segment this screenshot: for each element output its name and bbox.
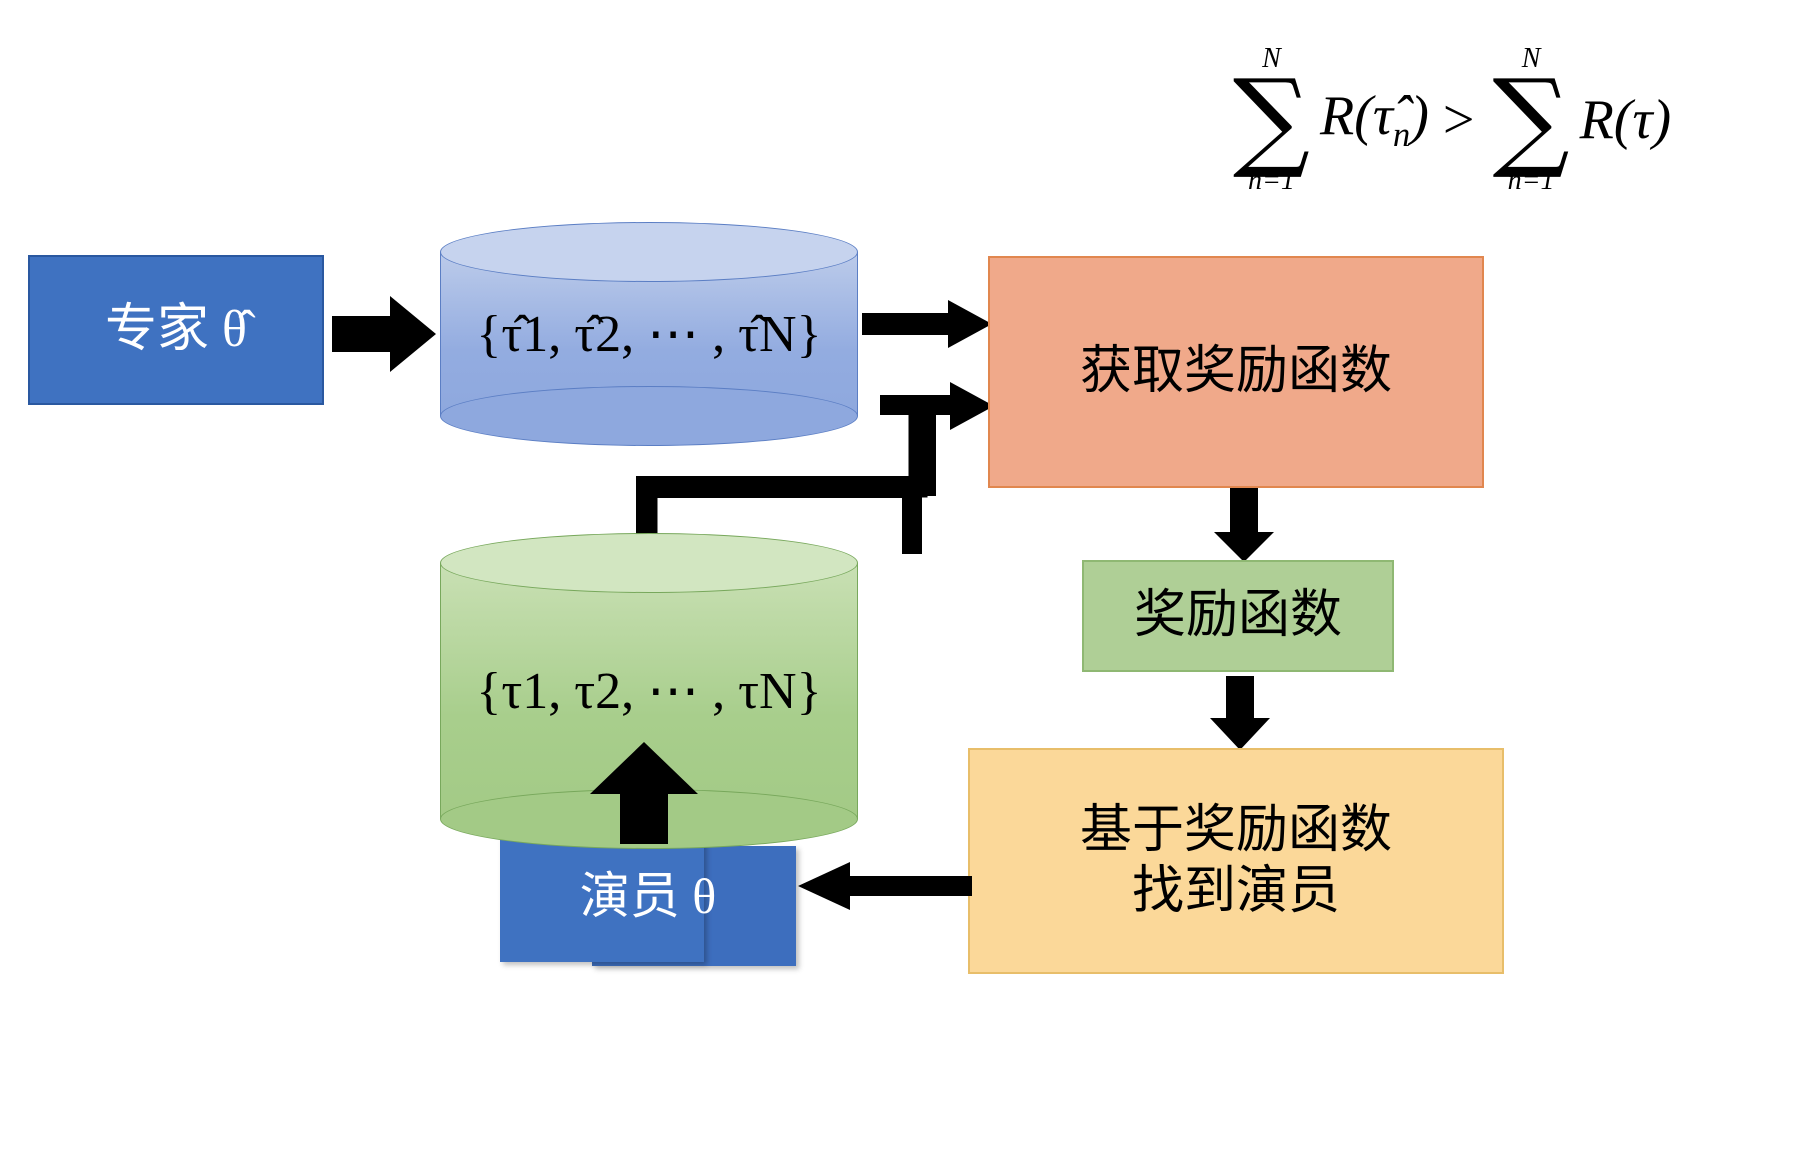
node-expert-trajectories-label: {τ̂1, τ̂2, ⋯ , τ̂N} <box>440 222 858 446</box>
node-actor-label-wrap: 演员 θ <box>500 826 796 966</box>
node-expert-label: 专家 θ̂ <box>105 299 247 360</box>
formula-relation: > <box>1443 88 1475 152</box>
node-reward-function[interactable]: 奖励函数 <box>1082 560 1394 672</box>
sum-left-sigma-icon: ∑ <box>1233 74 1310 167</box>
node-get-reward-function[interactable]: 获取奖励函数 <box>988 256 1484 488</box>
arrow-find-actor-to-actor <box>796 862 972 910</box>
summation-left: N ∑ n=1 <box>1233 44 1310 196</box>
sum-left-lower-limit: n=1 <box>1248 166 1295 195</box>
sum-right-sigma-icon: ∑ <box>1492 74 1569 167</box>
node-find-actor[interactable]: 基于奖励函数 找到演员 <box>968 748 1504 974</box>
node-reward-function-label: 奖励函数 <box>1134 585 1342 646</box>
formula-left-term-subscript: n <box>1393 116 1410 155</box>
arrow-get-reward-to-reward-function <box>1212 488 1276 564</box>
formula-left-term-head: R(τ̂ <box>1320 85 1393 147</box>
arrow-expert-to-expert-trajectories <box>332 296 440 372</box>
node-find-actor-line2: 找到演员 <box>1132 863 1340 920</box>
diagram-canvas: N ∑ n=1 R(τ̂n) > N ∑ n=1 R(τ) 专家 θ̂ {τ̂1… <box>0 0 1816 1159</box>
arrowhead-actor-trajectories-to-get-reward <box>880 380 998 432</box>
node-actor-label: 演员 θ <box>580 867 716 926</box>
summation-right: N ∑ n=1 <box>1492 44 1569 196</box>
formula-right-term: R(τ) <box>1580 88 1672 152</box>
node-expert-trajectories[interactable]: {τ̂1, τ̂2, ⋯ , τ̂N} <box>440 222 858 446</box>
arrow-expert-trajectories-to-get-reward <box>862 300 994 348</box>
formula-left-term: R(τ̂n) <box>1320 84 1429 155</box>
inequality-formula: N ∑ n=1 R(τ̂n) > N ∑ n=1 R(τ) <box>1120 20 1780 220</box>
formula-left-term-close: ) <box>1410 85 1429 147</box>
arrow-reward-function-to-find-actor <box>1208 676 1272 752</box>
node-find-actor-label: 基于奖励函数 找到演员 <box>1080 800 1392 923</box>
arrow-actor-to-actor-trajectories <box>588 742 700 844</box>
node-find-actor-line1: 基于奖励函数 <box>1080 802 1392 859</box>
sum-right-lower-limit: n=1 <box>1508 166 1555 195</box>
node-get-reward-function-label: 获取奖励函数 <box>1080 341 1392 402</box>
node-expert[interactable]: 专家 θ̂ <box>28 255 324 405</box>
